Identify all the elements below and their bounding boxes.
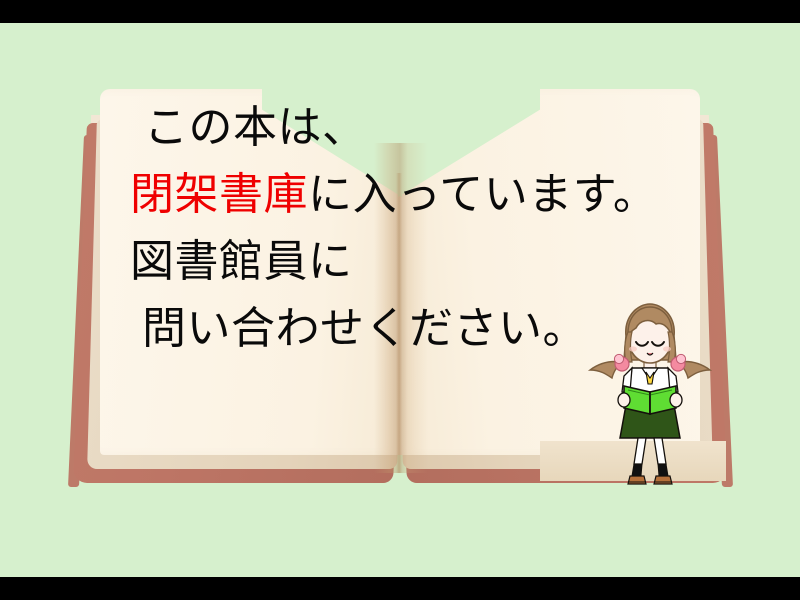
girl-reading-illustration (586, 298, 714, 488)
notice-highlight-term: 閉架書庫 (130, 169, 308, 220)
screenshot-canvas: この本は、 閉架書庫に入っています。 図書館員に 問い合わせください。 (0, 0, 800, 600)
notice-line-2: 閉架書庫に入っています。 (130, 162, 690, 229)
girl-reading-svg (586, 298, 714, 488)
notice-line-3: 図書館員に (130, 229, 690, 296)
letterbox-bar-top (0, 0, 800, 23)
notice-line-2-rest: に入っています。 (308, 169, 657, 220)
letterbox-bar-bottom (0, 577, 800, 600)
notice-line-1: この本は、 (144, 95, 690, 162)
